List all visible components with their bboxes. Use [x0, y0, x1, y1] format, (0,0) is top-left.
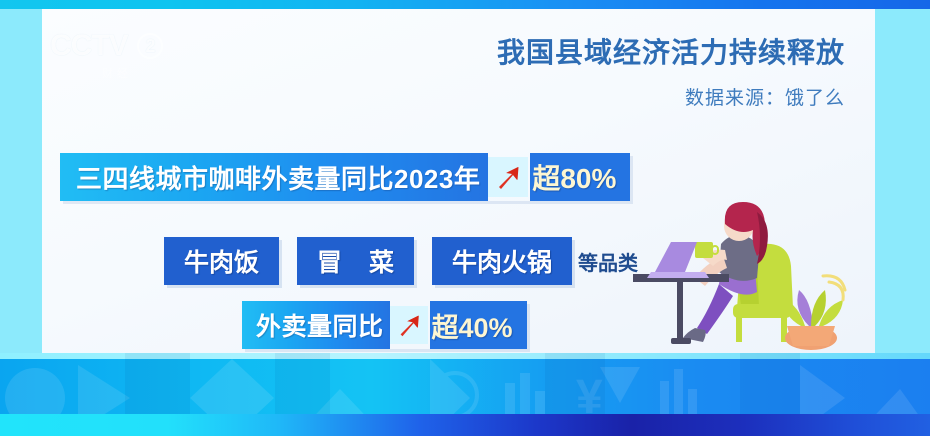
data-source-label: 数据来源：饿了么: [497, 83, 845, 110]
bottom-decorative-band: ¥: [0, 353, 930, 436]
left-cyan-strip: [0, 9, 42, 353]
watermark-cctv-text: CCTV: [50, 29, 128, 62]
top-accent-bar: [0, 0, 930, 9]
stat-banner-coffee-value: 超80%: [530, 153, 630, 201]
content-card: CCTV 2 财经 我国县域经济活力持续释放 数据来源：饿了么: [42, 9, 875, 353]
page-title: 我国县域经济活力持续释放: [497, 31, 845, 71]
category-suffix-label: 等品类: [578, 247, 638, 276]
stat-banner-delivery-inner: 外卖量同比 超40%: [242, 301, 527, 349]
watermark-channel-number: 2: [137, 33, 163, 59]
trend-up-arrow-icon: [488, 157, 528, 197]
stat-banner-coffee-inner: 三四线城市咖啡外卖量同比2023年 超80%: [60, 153, 630, 201]
watermark-channel-sub: 财经: [102, 65, 180, 81]
stat-banner-coffee-label: 三四线城市咖啡外卖量同比2023年: [60, 153, 488, 201]
graphic-header: 我国县域经济活力持续释放 数据来源：饿了么: [497, 31, 845, 110]
stat-banner-delivery-value: 超40%: [430, 301, 527, 349]
category-tag-0: 牛肉饭: [164, 237, 279, 285]
category-tag-row: 牛肉饭 冒 菜 牛肉火锅 等品类: [164, 237, 638, 285]
stat-banner-coffee: 三四线城市咖啡外卖量同比2023年 超80%: [60, 153, 630, 201]
stat-banner-delivery: 外卖量同比 超40%: [242, 301, 527, 347]
cctv-channel-watermark: CCTV 2 财经: [50, 29, 180, 97]
broadcast-graphic-stage: CCTV 2 财经 我国县域经济活力持续释放 数据来源：饿了么: [0, 0, 930, 436]
stat-banner-delivery-label: 外卖量同比: [242, 301, 390, 349]
category-tag-2: 牛肉火锅: [432, 237, 572, 285]
band-bottom-strip: [0, 414, 930, 436]
woman-working-illustration: [633, 178, 863, 353]
right-cyan-strip: [875, 9, 930, 353]
trend-up-arrow-icon: [390, 306, 428, 344]
category-tag-1: 冒 菜: [297, 237, 414, 285]
